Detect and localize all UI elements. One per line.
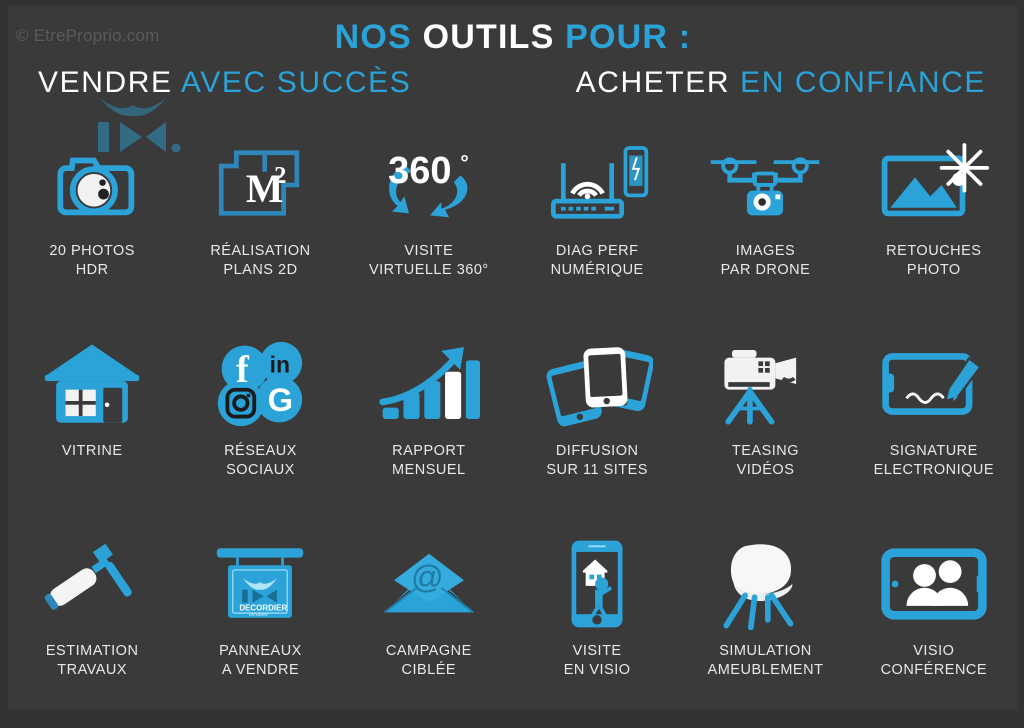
service-label: TEASING VIDÉOS — [732, 442, 799, 480]
service-label: RÉALISATION PLANS 2D — [210, 242, 310, 280]
phone-visit-icon — [536, 532, 658, 636]
service-item-retouches-photo[interactable]: RETOUCHES PHOTO — [850, 132, 1018, 328]
services-grid: 20 PHOTOS HDR M 2 RÉALISATION PLANS 2D 3 — [8, 132, 1018, 728]
service-label: SIGNATURE ELECTRONIQUE — [874, 442, 994, 480]
subheading-vendre: VENDRE AVEC SUCCÈS — [38, 66, 411, 100]
subheading-row: VENDRE AVEC SUCCÈS ACHETER EN CONFIANCE — [8, 66, 1018, 110]
service-item-teasing-videos[interactable]: TEASING VIDÉOS — [681, 332, 849, 528]
degree-symbol: ° — [460, 152, 468, 175]
service-item-visite-360[interactable]: 360 ° VISITE VIRTUELLE 360° — [345, 132, 513, 328]
service-label: VISITE EN VISIO — [564, 642, 631, 680]
tablets-icon — [536, 332, 658, 436]
facebook-icon: f — [237, 349, 251, 391]
service-label: DIAG PERF NUMÉRIQUE — [551, 242, 644, 280]
service-item-plans-2d[interactable]: M 2 RÉALISATION PLANS 2D — [176, 132, 344, 328]
service-label: SIMULATION AMEUBLEMENT — [708, 642, 824, 680]
service-item-visite-en-visio[interactable]: VISITE EN VISIO — [513, 532, 681, 728]
paint-roller-icon — [31, 532, 153, 636]
service-item-vitrine[interactable]: VITRINE — [8, 332, 176, 528]
service-label: PANNEAUX A VENDRE — [219, 642, 302, 680]
service-item-reseaux-sociaux[interactable]: f in G RÉSEAUX SOCIAUX — [176, 332, 344, 528]
floorplan-m2-icon: M 2 — [199, 132, 321, 236]
subheading-acheter-rest: EN CONFIANCE — [740, 66, 986, 99]
service-item-photos-hdr[interactable]: 20 PHOTOS HDR — [8, 132, 176, 328]
hanging-sign-icon: DECORDIER immobilier — [199, 532, 321, 636]
poster-root: © EtreProprio.com NOS OUTILS POUR : VEND… — [0, 0, 1024, 728]
service-label: VITRINE — [62, 442, 123, 461]
subheading-vendre-word: VENDRE — [38, 66, 173, 99]
signature-pad-icon — [873, 332, 995, 436]
service-item-estimation-travaux[interactable]: ESTIMATION TRAVAUX — [8, 532, 176, 728]
drone-icon — [704, 132, 826, 236]
chair-icon — [704, 532, 826, 636]
service-label: DIFFUSION SUR 11 SITES — [546, 442, 648, 480]
title-part-outils: OUTILS — [423, 18, 555, 56]
service-item-images-drone[interactable]: IMAGES PAR DRONE — [681, 132, 849, 328]
service-item-rapport-mensuel[interactable]: RAPPORT MENSUEL — [345, 332, 513, 528]
social-networks-icon: f in G — [199, 332, 321, 436]
bar-chart-arrow-icon — [368, 332, 490, 436]
subheading-acheter: ACHETER EN CONFIANCE — [576, 66, 986, 100]
title-part-pour: POUR : — [565, 18, 691, 56]
linkedin-icon: in — [270, 352, 290, 378]
service-label: CAMPAGNE CIBLÉE — [386, 642, 472, 680]
google-icon: G — [268, 382, 293, 418]
shop-house-icon — [31, 332, 153, 436]
tablet-people-icon — [873, 532, 995, 636]
service-label: IMAGES PAR DRONE — [721, 242, 811, 280]
service-item-visio-conference[interactable]: VISIO CONFÉRENCE — [850, 532, 1018, 728]
sign-brand-subtitle: immobilier — [249, 612, 269, 617]
service-item-signature-elec[interactable]: SIGNATURE ELECTRONIQUE — [850, 332, 1018, 528]
service-label: RAPPORT MENSUEL — [392, 442, 466, 480]
service-item-diag-perf[interactable]: DIAG PERF NUMÉRIQUE — [513, 132, 681, 328]
deg360-number: 360 — [388, 150, 451, 192]
title-part-nos: NOS — [335, 18, 412, 56]
subheading-vendre-rest: AVEC SUCCÈS — [181, 66, 411, 99]
service-label: VISITE VIRTUELLE 360° — [369, 242, 489, 280]
service-label: ESTIMATION TRAVAUX — [46, 642, 139, 680]
service-item-simulation-meuble[interactable]: SIMULATION AMEUBLEMENT — [681, 532, 849, 728]
page-title: NOS OUTILS POUR : — [8, 18, 1018, 57]
service-item-diffusion[interactable]: DIFFUSION SUR 11 SITES — [513, 332, 681, 528]
service-label: RÉSEAUX SOCIAUX — [224, 442, 297, 480]
video-camera-icon — [704, 332, 826, 436]
email-at-icon: @ — [368, 532, 490, 636]
watermark-text: © EtreProprio.com — [16, 26, 159, 46]
sign-brand-name: DECORDIER — [240, 603, 288, 612]
service-item-panneaux-a-vendre[interactable]: DECORDIER immobilier PANNEAUX A VENDRE — [176, 532, 344, 728]
service-label: 20 PHOTOS HDR — [49, 242, 135, 280]
router-wifi-icon — [536, 132, 658, 236]
camera-icon — [31, 132, 153, 236]
rotate-360-icon: 360 ° — [368, 132, 490, 236]
service-label: VISIO CONFÉRENCE — [881, 642, 988, 680]
m2-exponent: 2 — [275, 162, 287, 189]
photo-retouch-icon — [873, 132, 995, 236]
service-label: RETOUCHES PHOTO — [886, 242, 981, 280]
service-item-campagne-ciblee[interactable]: @ CAMPAGNE CIBLÉE — [345, 532, 513, 728]
subheading-acheter-word: ACHETER — [576, 66, 731, 99]
